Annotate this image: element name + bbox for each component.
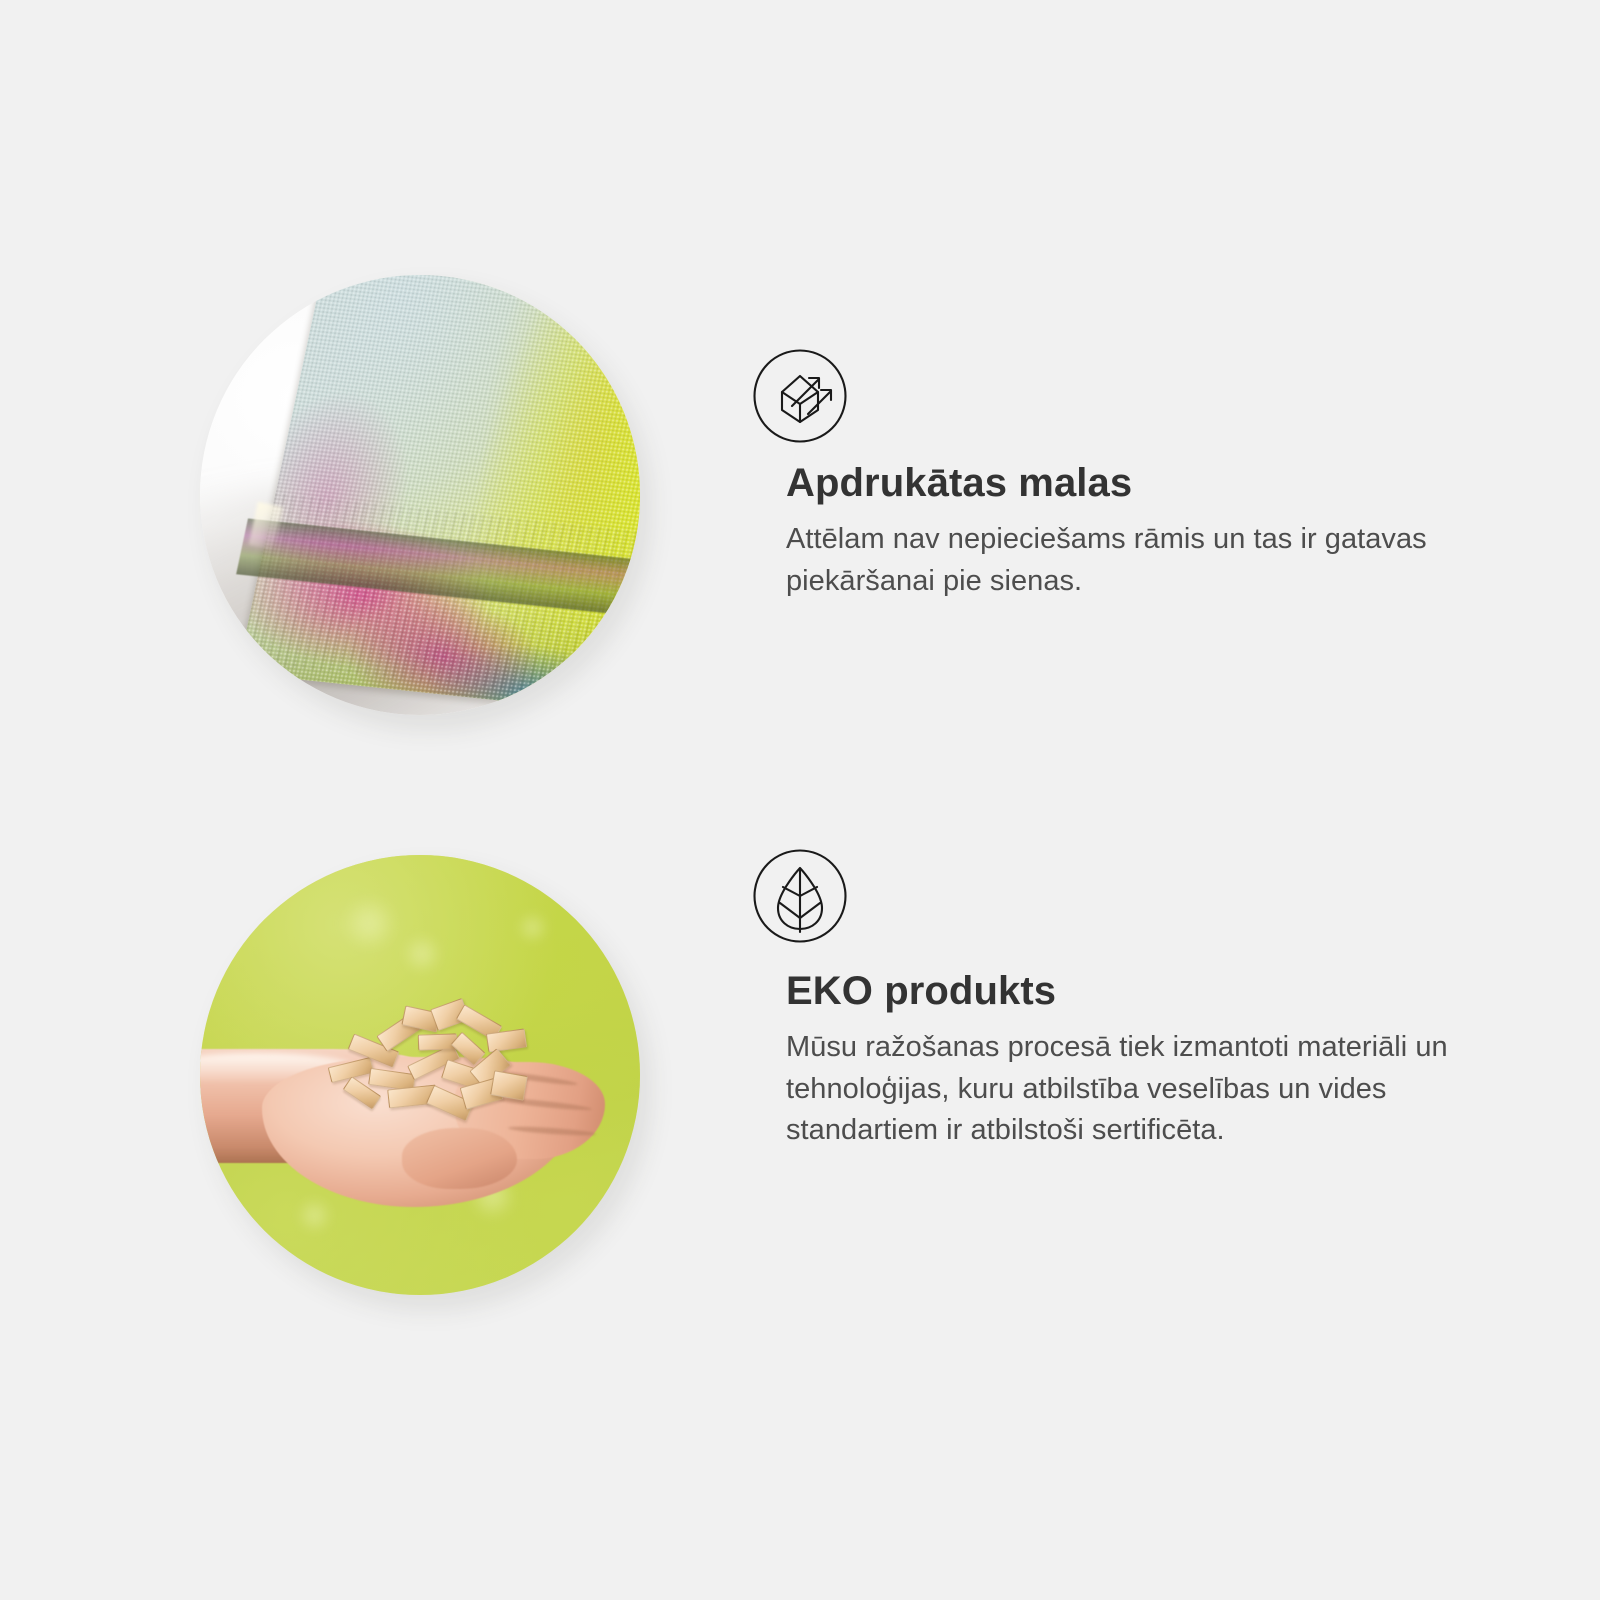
bokeh-highlight [341,895,398,952]
bokeh-highlight [517,912,548,943]
eco-photo-scene [200,855,640,1295]
printed-edges-title: Apdrukātas malas [786,462,1526,505]
leaf-vein-left-upper [783,887,800,896]
printed-edges-description: Attēlam nav nepieciešams rāmis un tas ir… [786,519,1526,602]
leaf-vein-right-lower [800,903,820,918]
eco-product-title: EKO produkts [786,970,1526,1013]
canvas-print-panel [237,275,640,715]
wood-chip [486,1029,527,1053]
eco-product-text-block: EKO produkts Mūsu ražošanas procesā tiek… [786,970,1526,1152]
leaf-vein-right-upper [800,887,817,896]
feature-highlights-page: Apdrukātas malas Attēlam nav nepieciešam… [0,0,1600,1600]
hand-with-wood-chips-photo [200,855,640,1295]
printed-edges-text-block: Apdrukātas malas Attēlam nav nepieciešam… [786,462,1526,602]
canvas-photo-scene [200,275,640,715]
canvas-artwork-surface [237,275,640,715]
feature-eco-product: EKO produkts Mūsu ražošanas procesā tiek… [0,835,1600,1305]
canvas-print-corner-photo [200,275,640,715]
wood-chip-pile [314,1000,560,1141]
leaf-vein-left-lower [780,903,800,918]
arrow-long-shaft [792,380,818,406]
eco-product-description: Mūsu ražošanas procesā tiek izmantoti ma… [786,1027,1526,1151]
feature-printed-edges: Apdrukātas malas Attēlam nav nepieciešam… [0,255,1600,725]
printed-edges-icon [752,348,848,444]
bokeh-highlight [297,1198,332,1233]
bokeh-highlight [402,934,442,974]
leaf-icon [752,848,848,944]
